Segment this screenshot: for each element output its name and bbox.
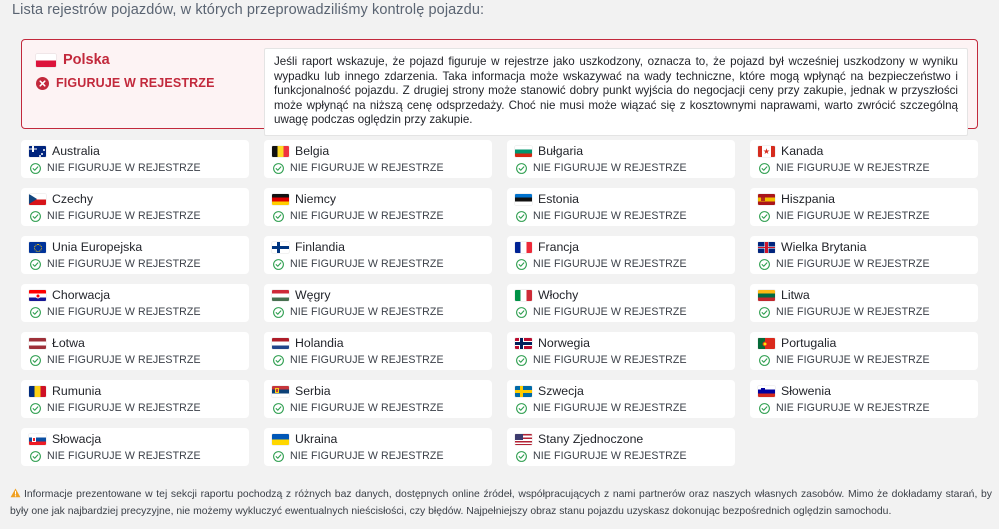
flag-netherlands-icon bbox=[272, 338, 289, 349]
check-circle-icon bbox=[516, 259, 527, 270]
country-status-label: NIE FIGURUJE W REJESTRZE bbox=[776, 162, 930, 174]
country-name-row: Niemcy bbox=[272, 192, 484, 207]
check-circle-icon bbox=[30, 307, 41, 318]
country-status-row: NIE FIGURUJE W REJESTRZE bbox=[515, 210, 727, 222]
flag-latvia-icon bbox=[29, 338, 46, 349]
country-name-row: Litwa bbox=[758, 288, 970, 303]
check-circle-icon bbox=[759, 355, 770, 366]
country-status-row: NIE FIGURUJE W REJESTRZE bbox=[758, 306, 970, 318]
country-status-row: NIE FIGURUJE W REJESTRZE bbox=[515, 402, 727, 414]
flag-spain-icon bbox=[758, 194, 775, 205]
country-status-label: NIE FIGURUJE W REJESTRZE bbox=[47, 450, 201, 462]
flag-united-states-icon bbox=[515, 434, 532, 445]
flag-sweden-icon bbox=[515, 386, 532, 397]
country-name-row: Holandia bbox=[272, 336, 484, 351]
country-name: Chorwacja bbox=[52, 288, 110, 303]
country-card[interactable]: NorwegiaNIE FIGURUJE W REJESTRZE bbox=[507, 332, 735, 370]
country-name-row: Hiszpania bbox=[758, 192, 970, 207]
country-status-label: NIE FIGURUJE W REJESTRZE bbox=[533, 450, 687, 462]
registry-alert-card-poland[interactable]: Polska FIGURUJE W REJESTRZE Jeśli raport… bbox=[21, 39, 978, 129]
flag-slovakia-icon bbox=[29, 434, 46, 445]
flag-united-kingdom-icon bbox=[758, 242, 775, 253]
flag-croatia-icon bbox=[29, 290, 46, 301]
country-name: Hiszpania bbox=[781, 192, 835, 207]
check-circle-icon bbox=[516, 451, 527, 462]
alert-status-label: FIGURUJE W REJESTRZE bbox=[56, 76, 215, 90]
country-name: Belgia bbox=[295, 144, 329, 159]
check-circle-icon bbox=[273, 259, 284, 270]
country-status-row: NIE FIGURUJE W REJESTRZE bbox=[272, 450, 484, 462]
check-circle-icon bbox=[30, 403, 41, 414]
country-name: Niemcy bbox=[295, 192, 336, 207]
country-name: Słowacja bbox=[52, 432, 101, 447]
country-name: Portugalia bbox=[781, 336, 836, 351]
check-circle-icon bbox=[759, 163, 770, 174]
country-card[interactable]: FrancjaNIE FIGURUJE W REJESTRZE bbox=[507, 236, 735, 274]
flag-canada-icon: ★ bbox=[758, 146, 775, 157]
check-circle-icon bbox=[273, 451, 284, 462]
alert-status-row: FIGURUJE W REJESTRZE bbox=[36, 76, 264, 90]
country-name: Słowenia bbox=[781, 384, 831, 399]
country-status-label: NIE FIGURUJE W REJESTRZE bbox=[533, 402, 687, 414]
country-status-label: NIE FIGURUJE W REJESTRZE bbox=[290, 258, 444, 270]
country-card[interactable]: LitwaNIE FIGURUJE W REJESTRZE bbox=[750, 284, 978, 322]
country-status-label: NIE FIGURUJE W REJESTRZE bbox=[47, 354, 201, 366]
check-circle-icon bbox=[273, 403, 284, 414]
check-circle-icon bbox=[273, 355, 284, 366]
country-status-label: NIE FIGURUJE W REJESTRZE bbox=[533, 258, 687, 270]
country-status-label: NIE FIGURUJE W REJESTRZE bbox=[47, 210, 201, 222]
flag-france-icon bbox=[515, 242, 532, 253]
country-card[interactable]: WłochyNIE FIGURUJE W REJESTRZE bbox=[507, 284, 735, 322]
country-name: Łotwa bbox=[52, 336, 85, 351]
country-name-row: Słowenia bbox=[758, 384, 970, 399]
country-card[interactable]: ŁotwaNIE FIGURUJE W REJESTRZE bbox=[21, 332, 249, 370]
error-circle-icon bbox=[36, 77, 49, 90]
country-name: Francja bbox=[538, 240, 579, 255]
check-circle-icon bbox=[516, 355, 527, 366]
country-name: Szwecja bbox=[538, 384, 584, 399]
flag-serbia-icon bbox=[272, 386, 289, 397]
flag-finland-icon bbox=[272, 242, 289, 253]
check-circle-icon bbox=[759, 307, 770, 318]
check-circle-icon bbox=[516, 307, 527, 318]
country-name: Rumunia bbox=[52, 384, 101, 399]
country-card[interactable]: FinlandiaNIE FIGURUJE W REJESTRZE bbox=[264, 236, 492, 274]
check-circle-icon bbox=[30, 355, 41, 366]
flag-portugal-icon bbox=[758, 338, 775, 349]
flag-bulgaria-icon bbox=[515, 146, 532, 157]
country-card[interactable]: BelgiaNIE FIGURUJE W REJESTRZE bbox=[264, 140, 492, 178]
registry-check-panel: Lista rejestrów pojazdów, w których prze… bbox=[0, 0, 999, 529]
country-status-row: NIE FIGURUJE W REJESTRZE bbox=[272, 306, 484, 318]
alert-card-left: Polska FIGURUJE W REJESTRZE bbox=[22, 40, 264, 90]
footer-disclaimer: Informacje prezentowane w tej sekcji rap… bbox=[10, 487, 992, 520]
flag-poland-icon bbox=[36, 54, 56, 67]
country-name: Norwegia bbox=[538, 336, 590, 351]
alert-country-name: Polska bbox=[63, 51, 110, 69]
country-status-row: NIE FIGURUJE W REJESTRZE bbox=[515, 258, 727, 270]
country-status-label: NIE FIGURUJE W REJESTRZE bbox=[776, 258, 930, 270]
country-status-row: NIE FIGURUJE W REJESTRZE bbox=[29, 354, 241, 366]
country-card[interactable]: ★KanadaNIE FIGURUJE W REJESTRZE bbox=[750, 140, 978, 178]
country-status-row: NIE FIGURUJE W REJESTRZE bbox=[515, 306, 727, 318]
country-status-row: NIE FIGURUJE W REJESTRZE bbox=[272, 258, 484, 270]
country-status-label: NIE FIGURUJE W REJESTRZE bbox=[47, 162, 201, 174]
country-status-row: NIE FIGURUJE W REJESTRZE bbox=[272, 210, 484, 222]
country-name-row: Węgry bbox=[272, 288, 484, 303]
country-card[interactable]: WęgryNIE FIGURUJE W REJESTRZE bbox=[264, 284, 492, 322]
flag-belgium-icon bbox=[272, 146, 289, 157]
country-status-row: NIE FIGURUJE W REJESTRZE bbox=[758, 258, 970, 270]
country-name-row: ★Kanada bbox=[758, 144, 970, 159]
country-card[interactable]: HiszpaniaNIE FIGURUJE W REJESTRZE bbox=[750, 188, 978, 226]
check-circle-icon bbox=[516, 163, 527, 174]
flag-ukraine-icon bbox=[272, 434, 289, 445]
country-status-label: NIE FIGURUJE W REJESTRZE bbox=[776, 210, 930, 222]
check-circle-icon bbox=[759, 211, 770, 222]
country-name-row: Belgia bbox=[272, 144, 484, 159]
country-status-row: NIE FIGURUJE W REJESTRZE bbox=[29, 402, 241, 414]
country-card[interactable]: NiemcyNIE FIGURUJE W REJESTRZE bbox=[264, 188, 492, 226]
country-status-row: NIE FIGURUJE W REJESTRZE bbox=[29, 450, 241, 462]
flag-germany-icon bbox=[272, 194, 289, 205]
country-name-row: Stany Zjednoczone bbox=[515, 432, 727, 447]
country-status-row: NIE FIGURUJE W REJESTRZE bbox=[272, 354, 484, 366]
country-status-label: NIE FIGURUJE W REJESTRZE bbox=[776, 354, 930, 366]
country-status-label: NIE FIGURUJE W REJESTRZE bbox=[290, 162, 444, 174]
country-card[interactable]: SerbiaNIE FIGURUJE W REJESTRZE bbox=[264, 380, 492, 418]
country-name: Wielka Brytania bbox=[781, 240, 866, 255]
country-name-row: Unia Europejska bbox=[29, 240, 241, 255]
check-circle-icon bbox=[30, 163, 41, 174]
country-name-row: Czechy bbox=[29, 192, 241, 207]
country-card[interactable]: PortugaliaNIE FIGURUJE W REJESTRZE bbox=[750, 332, 978, 370]
country-status-label: NIE FIGURUJE W REJESTRZE bbox=[47, 258, 201, 270]
country-name: Serbia bbox=[295, 384, 331, 399]
country-card[interactable]: BułgariaNIE FIGURUJE W REJESTRZE bbox=[507, 140, 735, 178]
footer-disclaimer-text: Informacje prezentowane w tej sekcji rap… bbox=[10, 489, 992, 517]
country-status-label: NIE FIGURUJE W REJESTRZE bbox=[47, 306, 201, 318]
country-name-row: Rumunia bbox=[29, 384, 241, 399]
country-name-row: Finlandia bbox=[272, 240, 484, 255]
country-status-row: NIE FIGURUJE W REJESTRZE bbox=[515, 162, 727, 174]
check-circle-icon bbox=[516, 211, 527, 222]
country-card[interactable]: Wielka BrytaniaNIE FIGURUJE W REJESTRZE bbox=[750, 236, 978, 274]
country-card[interactable]: CzechyNIE FIGURUJE W REJESTRZE bbox=[21, 188, 249, 226]
country-registry-grid: AustraliaNIE FIGURUJE W REJESTRZEBelgiaN… bbox=[21, 140, 978, 466]
country-name-row: Włochy bbox=[515, 288, 727, 303]
check-circle-icon bbox=[759, 259, 770, 270]
country-name-row: Serbia bbox=[272, 384, 484, 399]
country-status-row: NIE FIGURUJE W REJESTRZE bbox=[515, 450, 727, 462]
flag-lithuania-icon bbox=[758, 290, 775, 301]
country-status-row: NIE FIGURUJE W REJESTRZE bbox=[758, 210, 970, 222]
check-circle-icon bbox=[30, 259, 41, 270]
country-name: Kanada bbox=[781, 144, 823, 159]
flag-romania-icon bbox=[29, 386, 46, 397]
country-status-label: NIE FIGURUJE W REJESTRZE bbox=[290, 210, 444, 222]
country-status-row: NIE FIGURUJE W REJESTRZE bbox=[515, 354, 727, 366]
country-name: Włochy bbox=[538, 288, 578, 303]
country-status-label: NIE FIGURUJE W REJESTRZE bbox=[776, 402, 930, 414]
country-status-row: NIE FIGURUJE W REJESTRZE bbox=[758, 162, 970, 174]
country-name-row: Bułgaria bbox=[515, 144, 727, 159]
country-status-row: NIE FIGURUJE W REJESTRZE bbox=[758, 402, 970, 414]
flag-hungary-icon bbox=[272, 290, 289, 301]
country-name: Australia bbox=[52, 144, 100, 159]
country-name-row: Estonia bbox=[515, 192, 727, 207]
country-card[interactable]: RumuniaNIE FIGURUJE W REJESTRZE bbox=[21, 380, 249, 418]
country-name: Unia Europejska bbox=[52, 240, 142, 255]
country-status-label: NIE FIGURUJE W REJESTRZE bbox=[290, 354, 444, 366]
check-circle-icon bbox=[759, 403, 770, 414]
flag-slovenia-icon bbox=[758, 386, 775, 397]
country-status-label: NIE FIGURUJE W REJESTRZE bbox=[533, 162, 687, 174]
check-circle-icon bbox=[273, 307, 284, 318]
country-name-row: Ukraina bbox=[272, 432, 484, 447]
country-status-label: NIE FIGURUJE W REJESTRZE bbox=[47, 402, 201, 414]
warning-triangle-icon bbox=[10, 488, 21, 504]
alert-explanation-text: Jeśli raport wskazuje, że pojazd figuruj… bbox=[264, 48, 968, 136]
country-status-row: NIE FIGURUJE W REJESTRZE bbox=[29, 210, 241, 222]
country-name: Ukraina bbox=[295, 432, 337, 447]
country-status-label: NIE FIGURUJE W REJESTRZE bbox=[776, 306, 930, 318]
country-status-row: NIE FIGURUJE W REJESTRZE bbox=[272, 162, 484, 174]
flag-estonia-icon bbox=[515, 194, 532, 205]
flag-australia-icon bbox=[29, 146, 46, 157]
country-status-label: NIE FIGURUJE W REJESTRZE bbox=[290, 450, 444, 462]
country-status-row: NIE FIGURUJE W REJESTRZE bbox=[272, 402, 484, 414]
flag-italy-icon bbox=[515, 290, 532, 301]
country-name-row: Łotwa bbox=[29, 336, 241, 351]
check-circle-icon bbox=[30, 451, 41, 462]
country-status-row: NIE FIGURUJE W REJESTRZE bbox=[29, 306, 241, 318]
check-circle-icon bbox=[516, 403, 527, 414]
country-name: Stany Zjednoczone bbox=[538, 432, 643, 447]
country-name-row: Norwegia bbox=[515, 336, 727, 351]
check-circle-icon bbox=[30, 211, 41, 222]
country-name-row: Wielka Brytania bbox=[758, 240, 970, 255]
country-name-row: Szwecja bbox=[515, 384, 727, 399]
country-card[interactable]: HolandiaNIE FIGURUJE W REJESTRZE bbox=[264, 332, 492, 370]
page-title: Lista rejestrów pojazdów, w których prze… bbox=[12, 2, 484, 18]
country-card[interactable]: SłoweniaNIE FIGURUJE W REJESTRZE bbox=[750, 380, 978, 418]
country-card[interactable]: ChorwacjaNIE FIGURUJE W REJESTRZE bbox=[21, 284, 249, 322]
country-name: Bułgaria bbox=[538, 144, 583, 159]
country-name-row: Chorwacja bbox=[29, 288, 241, 303]
country-card[interactable]: SłowacjaNIE FIGURUJE W REJESTRZE bbox=[21, 428, 249, 466]
country-name-row: Francja bbox=[515, 240, 727, 255]
country-name-row: Australia bbox=[29, 144, 241, 159]
check-circle-icon bbox=[273, 211, 284, 222]
country-status-row: NIE FIGURUJE W REJESTRZE bbox=[758, 354, 970, 366]
country-status-row: NIE FIGURUJE W REJESTRZE bbox=[29, 162, 241, 174]
country-status-label: NIE FIGURUJE W REJESTRZE bbox=[533, 354, 687, 366]
country-name: Finlandia bbox=[295, 240, 345, 255]
country-name: Czechy bbox=[52, 192, 93, 207]
country-card[interactable]: Stany ZjednoczoneNIE FIGURUJE W REJESTRZ… bbox=[507, 428, 735, 466]
country-status-row: NIE FIGURUJE W REJESTRZE bbox=[29, 258, 241, 270]
country-name-row: Portugalia bbox=[758, 336, 970, 351]
country-status-label: NIE FIGURUJE W REJESTRZE bbox=[533, 306, 687, 318]
country-status-label: NIE FIGURUJE W REJESTRZE bbox=[533, 210, 687, 222]
flag-czechia-icon bbox=[29, 194, 46, 205]
country-status-label: NIE FIGURUJE W REJESTRZE bbox=[290, 306, 444, 318]
flag-european-union-icon bbox=[29, 242, 46, 253]
alert-country-row: Polska bbox=[36, 51, 264, 69]
country-card[interactable]: Unia EuropejskaNIE FIGURUJE W REJESTRZE bbox=[21, 236, 249, 274]
country-card[interactable]: UkrainaNIE FIGURUJE W REJESTRZE bbox=[264, 428, 492, 466]
country-status-label: NIE FIGURUJE W REJESTRZE bbox=[290, 402, 444, 414]
country-name: Węgry bbox=[295, 288, 331, 303]
country-name-row: Słowacja bbox=[29, 432, 241, 447]
country-name: Estonia bbox=[538, 192, 579, 207]
check-circle-icon bbox=[273, 163, 284, 174]
country-card[interactable]: AustraliaNIE FIGURUJE W REJESTRZE bbox=[21, 140, 249, 178]
country-card[interactable]: EstoniaNIE FIGURUJE W REJESTRZE bbox=[507, 188, 735, 226]
country-card[interactable]: SzwecjaNIE FIGURUJE W REJESTRZE bbox=[507, 380, 735, 418]
country-name: Litwa bbox=[781, 288, 810, 303]
flag-norway-icon bbox=[515, 338, 532, 349]
country-name: Holandia bbox=[295, 336, 344, 351]
